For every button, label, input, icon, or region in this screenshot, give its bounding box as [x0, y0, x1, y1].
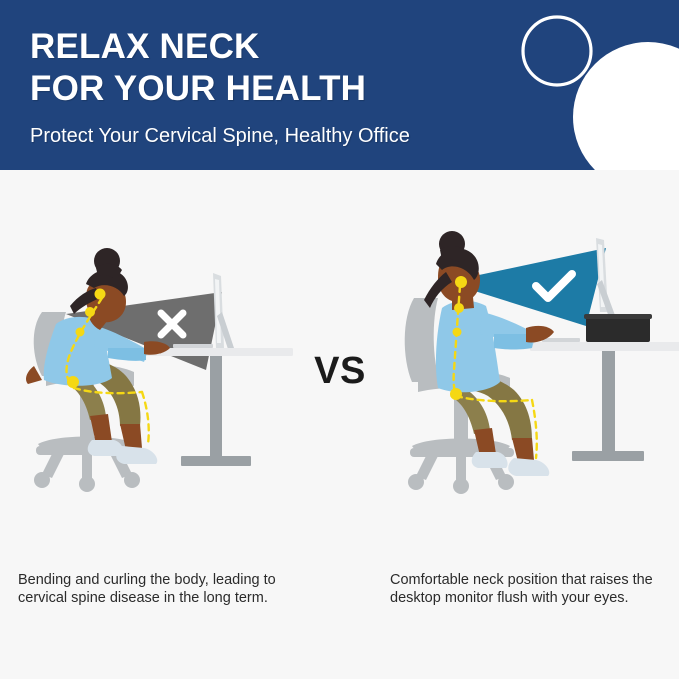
header-banner: RELAX NECK FOR YOUR HEALTH Protect Your …: [0, 0, 679, 172]
desk-raised: [530, 338, 679, 461]
page-title-line-2: FOR YOUR HEALTH: [30, 68, 510, 110]
leg-path: [142, 392, 149, 444]
illustration-good-posture: [390, 230, 679, 520]
monitor-riser-top: [584, 314, 652, 319]
caption-good-posture: Comfortable neck position that raises th…: [390, 571, 679, 607]
page-subtitle: Protect Your Cervical Spine, Healthy Off…: [30, 123, 510, 149]
chair-backrest: [405, 298, 440, 382]
illustration-bad-posture: [8, 230, 298, 520]
caption-bad-posture: Bending and curling the body, leading to…: [18, 571, 318, 607]
desk-column: [210, 356, 222, 456]
shoe-near: [116, 446, 157, 464]
keyboard: [173, 344, 213, 348]
shoe-near: [508, 458, 549, 476]
comparison-area: VS Bending and curling the body, leading…: [0, 172, 679, 679]
desk-top: [530, 342, 679, 351]
desk-foot: [572, 451, 644, 461]
monitor-riser: [586, 316, 650, 342]
desk-column: [602, 351, 615, 451]
header-text-block: RELAX NECK FOR YOUR HEALTH Protect Your …: [30, 26, 510, 149]
shoe-far: [472, 452, 508, 468]
desk-low: [143, 344, 293, 466]
infographic-root: RELAX NECK FOR YOUR HEALTH Protect Your …: [0, 0, 679, 679]
versus-label: VS: [300, 350, 380, 393]
page-title-line-1: RELAX NECK: [30, 26, 510, 68]
monitor-low: [213, 273, 234, 349]
desk-foot: [181, 456, 251, 466]
keyboard: [542, 338, 580, 342]
shirt-cuff: [108, 348, 146, 361]
